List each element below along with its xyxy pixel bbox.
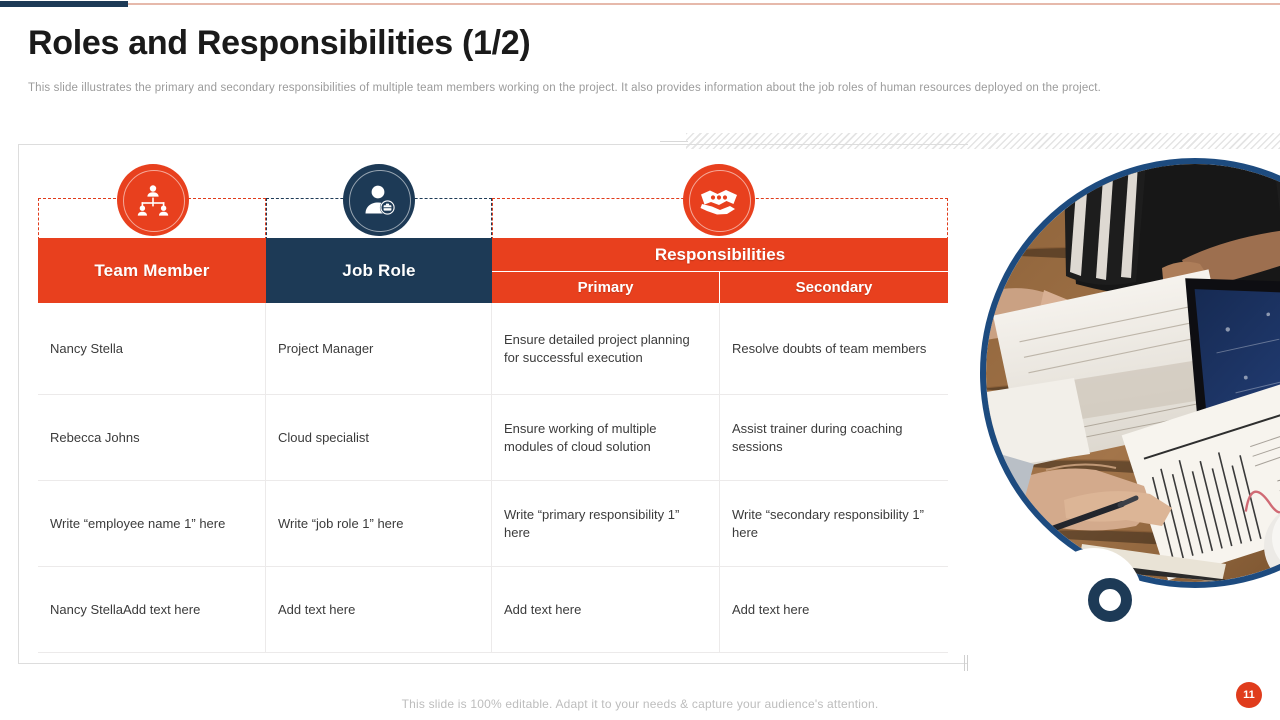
cell-secondary: Resolve doubts of team members: [720, 303, 948, 394]
cell-secondary: Assist trainer during coaching sessions: [720, 395, 948, 480]
column-header-responsibilities: Responsibilities: [492, 238, 948, 271]
page-number-badge: 11: [1236, 682, 1262, 708]
handshake-icon: [683, 164, 755, 236]
table-row: Nancy StellaAdd text here Add text here …: [38, 567, 948, 653]
page-subtitle: This slide illustrates the primary and s…: [28, 80, 1233, 96]
cell-team-member: Nancy Stella: [38, 303, 266, 394]
cell-team-member: Write “employee name 1” here: [38, 481, 266, 566]
cell-job-role: Add text here: [266, 567, 492, 652]
top-navy-accent-bar: [0, 1, 128, 7]
top-red-accent-line: [128, 3, 1280, 5]
content-frame-bottom: [18, 663, 968, 664]
slide-canvas: Roles and Responsibilities (1/2) This sl…: [0, 0, 1280, 720]
footer-note: This slide is 100% editable. Adapt it to…: [0, 697, 1280, 711]
column-header-primary: Primary: [492, 272, 719, 303]
cell-team-member: Rebecca Johns: [38, 395, 266, 480]
cell-job-role: Cloud specialist: [266, 395, 492, 480]
cell-secondary: Write “secondary responsibility 1” here: [720, 481, 948, 566]
org-chart-people-icon: [117, 164, 189, 236]
cell-job-role: Project Manager: [266, 303, 492, 394]
table-body: Nancy Stella Project Manager Ensure deta…: [38, 303, 948, 653]
ring-dot-icon: [1088, 578, 1132, 622]
hatch-leader-line: [660, 141, 688, 142]
table-header-row: Team Member Job Role Responsibilities Pr…: [38, 238, 948, 303]
cell-secondary: Add text here: [720, 567, 948, 652]
table-row: Nancy Stella Project Manager Ensure deta…: [38, 303, 948, 395]
person-briefcase-icon: [343, 164, 415, 236]
team-meeting-photo: [980, 158, 1280, 588]
column-header-secondary: Secondary: [720, 272, 948, 303]
cell-primary: Ensure detailed project planning for suc…: [492, 303, 720, 394]
column-header-job-role: Job Role: [266, 238, 492, 303]
table-row: Rebecca Johns Cloud specialist Ensure wo…: [38, 395, 948, 481]
frame-tick-mark-2: [967, 655, 968, 671]
column-header-team-member: Team Member: [38, 238, 266, 303]
frame-tick-mark: [964, 655, 965, 671]
cell-primary: Ensure working of multiple modules of cl…: [492, 395, 720, 480]
table-row: Write “employee name 1” here Write “job …: [38, 481, 948, 567]
cell-team-member: Nancy StellaAdd text here: [38, 567, 266, 652]
photo-clip: [986, 164, 1280, 582]
cell-primary: Write “primary responsibility 1” here: [492, 481, 720, 566]
cell-primary: Add text here: [492, 567, 720, 652]
cell-job-role: Write “job role 1” here: [266, 481, 492, 566]
page-title: Roles and Responsibilities (1/2): [28, 24, 530, 63]
